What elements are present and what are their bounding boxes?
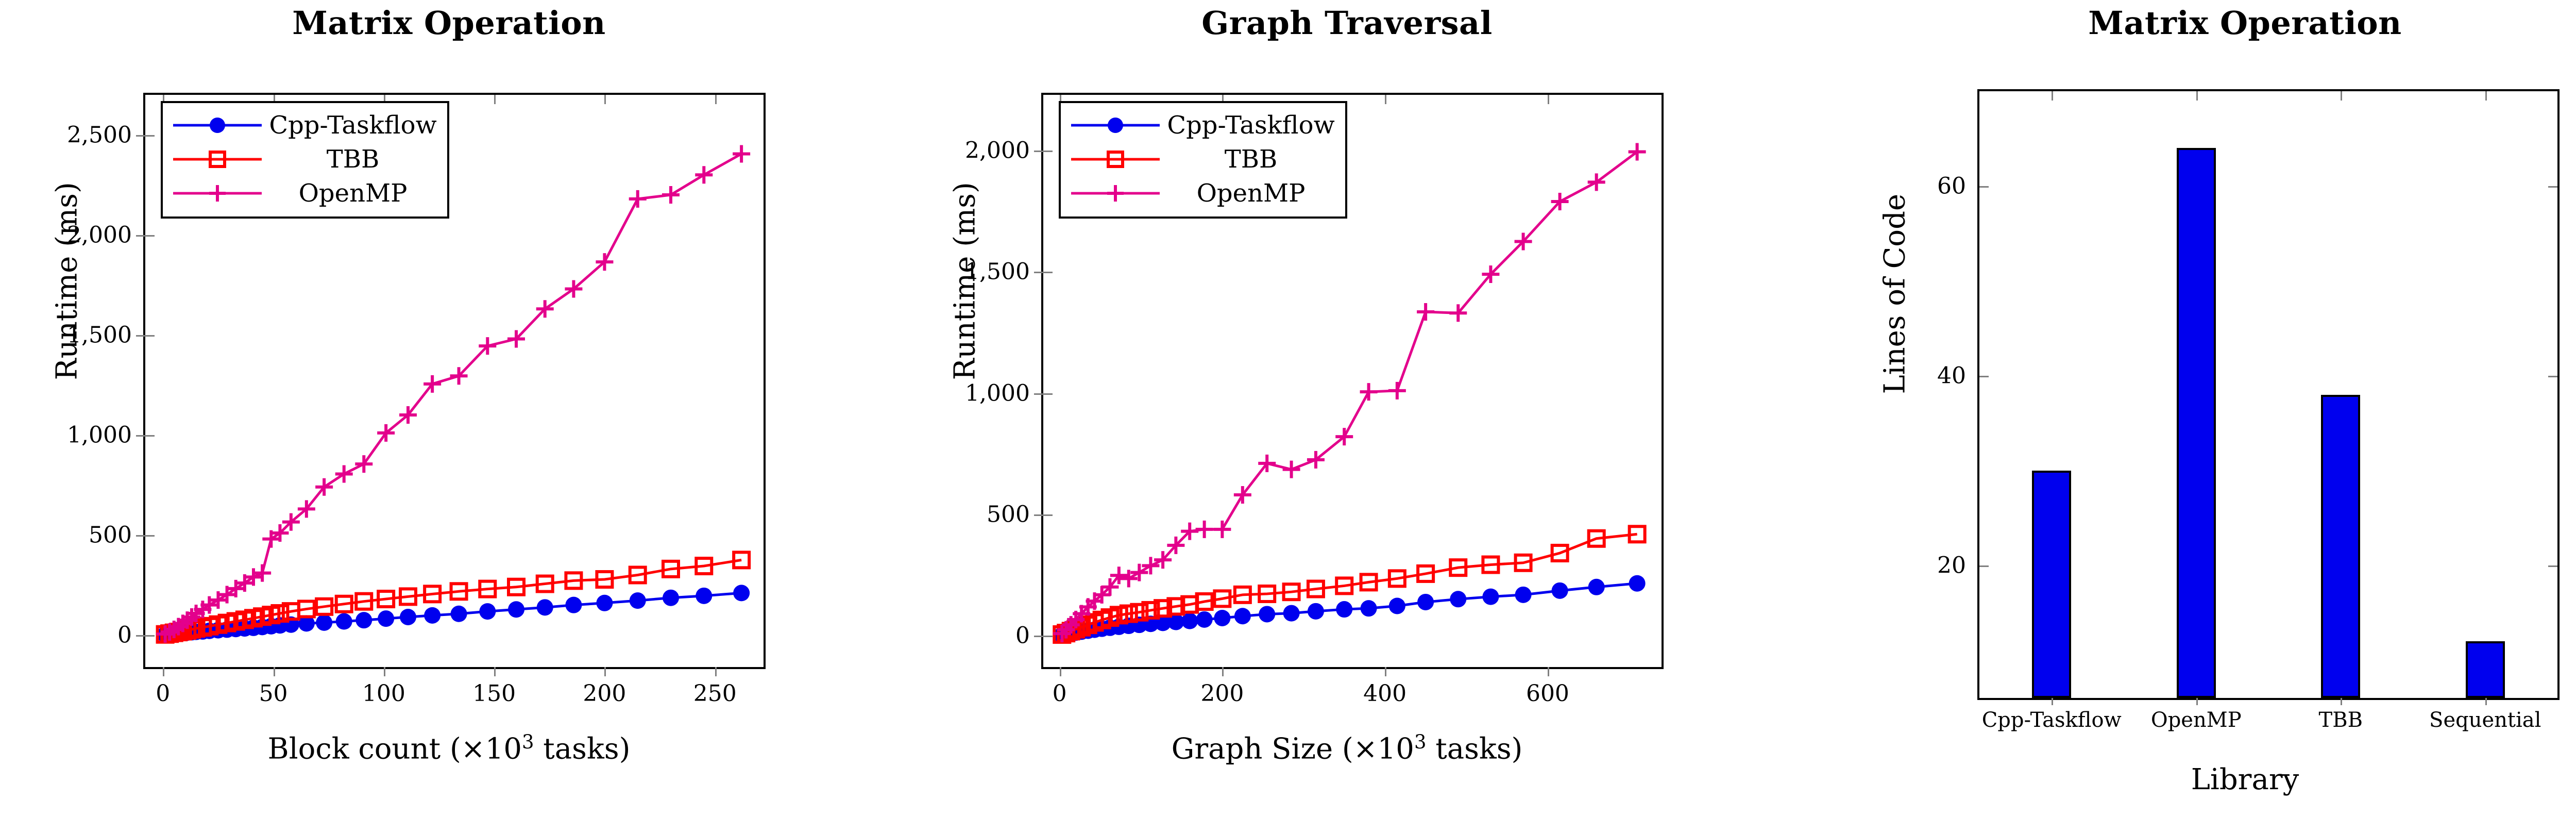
- legend-label: TBB: [1162, 145, 1337, 174]
- x-tick-mark: [163, 667, 164, 676]
- panel-title: Matrix Operation: [0, 4, 898, 42]
- x-category-label: Sequential: [2429, 708, 2541, 732]
- plot-inner: 204060Cpp-TaskflowOpenMPTBBSequential: [1979, 91, 2557, 698]
- legend-label: TBB: [264, 145, 439, 174]
- bar-cpp-taskflow[interactable]: [2032, 471, 2071, 698]
- legend: Cpp-TaskflowTBBOpenMP: [1059, 101, 1347, 219]
- x-tick-mark: [2196, 91, 2198, 101]
- legend-marker-open-square: [1069, 149, 1162, 170]
- y-tick-mark: [1034, 272, 1043, 273]
- x-category-label: TBB: [2319, 708, 2363, 732]
- x-tick-label: 200: [583, 680, 626, 707]
- y-tick-mark: [1034, 636, 1043, 637]
- y-tick-label: 20: [1937, 552, 1966, 578]
- y-tick-mark: [1979, 376, 1989, 377]
- legend-item-openmp[interactable]: OpenMP: [171, 176, 439, 210]
- legend-item-cpp-taskflow[interactable]: Cpp-Taskflow: [1069, 108, 1337, 142]
- y-tick-label: 500: [987, 501, 1030, 527]
- panel-matrix-operation-loc: Matrix Operation 204060Cpp-TaskflowOpenM…: [1796, 0, 2576, 816]
- y-tick-label: 60: [1937, 173, 1966, 199]
- x-tick-label: 50: [259, 680, 288, 707]
- legend-marker-filled-circle: [1069, 115, 1162, 136]
- x-axis-title-prefix: Graph Size (×10: [1172, 732, 1414, 766]
- x-axis-title: Block count (×103 tasks): [0, 731, 898, 766]
- x-axis-title-exponent: 3: [522, 731, 534, 753]
- y-tick-label: 1,000: [67, 422, 132, 448]
- figure-root: Matrix Operation 05001,0001,5002,0002,50…: [0, 0, 2576, 816]
- x-axis-title-exponent: 3: [1414, 731, 1427, 753]
- x-category-label: Cpp-Taskflow: [1982, 708, 2122, 732]
- panel-graph-traversal-runtime: Graph Traversal 05001,0001,5002,00002004…: [898, 0, 1796, 816]
- y-tick-mark: [136, 635, 145, 637]
- series-tbb: [158, 552, 750, 642]
- y-tick-label: 0: [117, 622, 132, 648]
- plot-area: 204060Cpp-TaskflowOpenMPTBBSequential: [1977, 89, 2560, 700]
- x-tick-mark: [494, 667, 496, 676]
- y-tick-mark: [1034, 514, 1043, 516]
- x-tick-label: 600: [1526, 680, 1569, 707]
- x-tick-label: 400: [1363, 680, 1406, 707]
- legend-marker-filled-circle: [171, 115, 264, 136]
- series-openmp: [157, 145, 751, 642]
- y-tick-mark: [1979, 565, 1989, 567]
- legend-label: Cpp-Taskflow: [264, 111, 439, 140]
- x-category-label: OpenMP: [2151, 708, 2242, 732]
- legend-marker-plus: [1069, 183, 1162, 204]
- x-tick-label: 0: [156, 680, 170, 707]
- x-tick-label: 200: [1200, 680, 1244, 707]
- bar-tbb[interactable]: [2321, 395, 2360, 698]
- x-tick-mark: [2485, 91, 2487, 101]
- legend-item-openmp[interactable]: OpenMP: [1069, 176, 1337, 210]
- y-tick-mark: [1979, 186, 1989, 188]
- legend-item-cpp-taskflow[interactable]: Cpp-Taskflow: [171, 108, 439, 142]
- y-tick-mark-right: [2548, 186, 2557, 188]
- x-tick-mark: [274, 667, 275, 676]
- legend-item-tbb[interactable]: TBB: [171, 142, 439, 176]
- y-tick-mark: [1034, 151, 1043, 152]
- x-tick-mark: [384, 667, 385, 676]
- y-tick-label: 1,000: [965, 380, 1030, 406]
- y-tick-mark: [1034, 393, 1043, 395]
- x-tick-label: 100: [362, 680, 405, 707]
- x-tick-mark-bottom: [2485, 698, 2487, 705]
- x-axis-title-suffix: tasks): [534, 732, 630, 766]
- x-tick-mark: [1548, 667, 1549, 676]
- x-tick-mark: [1385, 667, 1386, 676]
- bar-openmp[interactable]: [2177, 148, 2216, 698]
- x-tick-mark: [2052, 91, 2053, 101]
- x-axis-title: Library: [1796, 763, 2576, 796]
- x-axis-title: Graph Size (×103 tasks): [898, 731, 1796, 766]
- y-tick-mark-right: [2548, 376, 2557, 377]
- y-tick-label: 40: [1937, 362, 1966, 389]
- x-tick-mark: [1060, 667, 1061, 676]
- y-tick-mark: [136, 135, 145, 137]
- legend-label: OpenMP: [1162, 179, 1337, 208]
- x-axis-title-suffix: tasks): [1426, 732, 1522, 766]
- y-tick-mark: [136, 235, 145, 237]
- bar-sequential[interactable]: [2466, 641, 2505, 698]
- y-tick-label: 0: [1015, 622, 1030, 648]
- x-tick-mark-bottom: [2052, 698, 2053, 705]
- x-tick-mark: [604, 667, 606, 676]
- legend-item-tbb[interactable]: TBB: [1069, 142, 1337, 176]
- x-axis-title-prefix: Block count (×10: [268, 732, 522, 766]
- y-tick-mark: [136, 435, 145, 437]
- y-tick-label: 500: [89, 522, 132, 548]
- y-tick-mark-right: [2548, 565, 2557, 567]
- x-tick-label: 250: [693, 680, 737, 707]
- panel-title: Graph Traversal: [898, 4, 1796, 42]
- panel-matrix-operation-runtime: Matrix Operation 05001,0001,5002,0002,50…: [0, 0, 898, 816]
- legend-marker-plus: [171, 183, 264, 204]
- x-tick-label: 0: [1053, 680, 1067, 707]
- x-tick-mark: [1222, 667, 1224, 676]
- y-tick-mark: [136, 535, 145, 537]
- x-tick-mark-bottom: [2196, 698, 2198, 705]
- x-tick-mark-bottom: [2341, 698, 2342, 705]
- y-tick-mark: [136, 335, 145, 337]
- legend-label: OpenMP: [264, 179, 439, 208]
- legend: Cpp-TaskflowTBBOpenMP: [161, 101, 449, 219]
- x-tick-mark: [715, 667, 717, 676]
- legend-label: Cpp-Taskflow: [1162, 111, 1337, 140]
- y-tick-label: 2,500: [67, 122, 132, 148]
- panel-title: Matrix Operation: [1796, 4, 2576, 42]
- x-tick-label: 150: [472, 680, 516, 707]
- x-tick-mark: [2341, 91, 2342, 101]
- y-tick-label: 2,000: [965, 138, 1030, 164]
- legend-marker-open-square: [171, 149, 264, 170]
